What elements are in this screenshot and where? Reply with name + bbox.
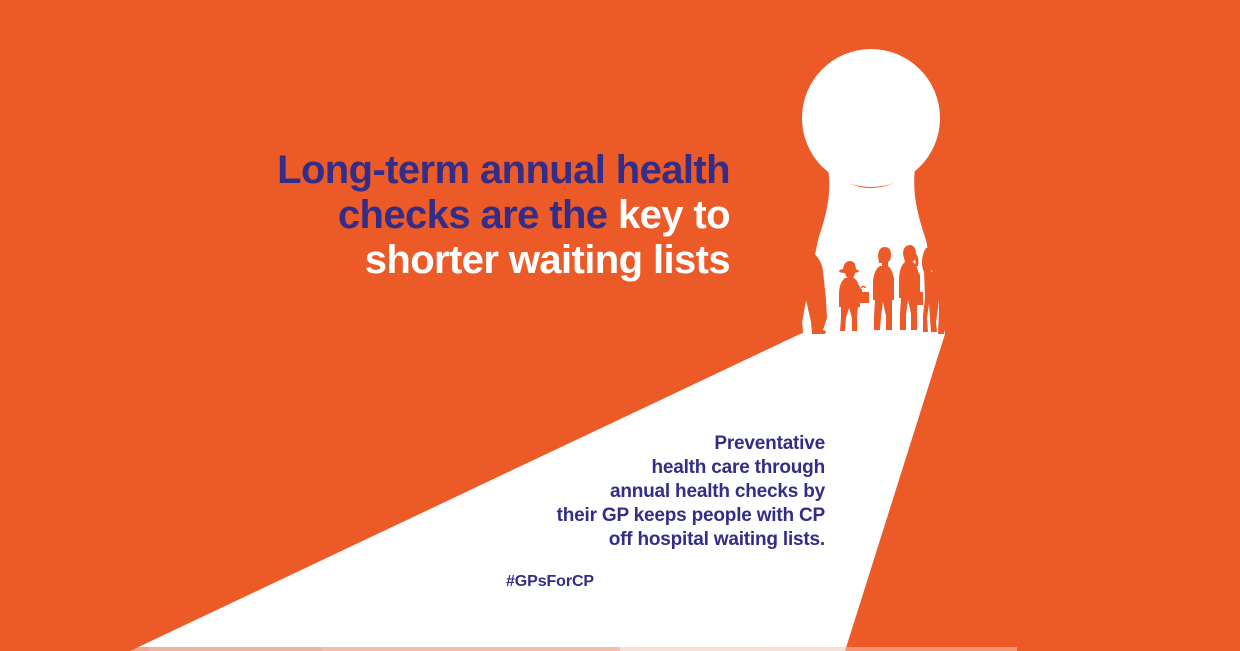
keyhole-illustration: [0, 0, 1240, 651]
body-copy: Preventative health care through annual …: [420, 432, 825, 552]
body-line-3: annual health checks by: [610, 481, 825, 502]
headline-line-2-blue: checks are the: [338, 193, 618, 237]
body-line-4: their GP keeps people with CP: [557, 505, 825, 526]
headline-line-2-white: key to: [618, 193, 730, 237]
page-headline: Long-term annual health checks are the k…: [120, 148, 730, 283]
headline-line-3-white: shorter waiting lists: [365, 238, 730, 282]
body-line-2: health care through: [651, 457, 825, 478]
body-line-1: Preventative: [714, 433, 825, 454]
figure-partial-far-right: [938, 290, 945, 334]
body-line-5: off hospital waiting lists.: [609, 529, 825, 550]
keyhole-circle: [802, 49, 940, 187]
campaign-poster: Long-term annual health checks are the k…: [0, 0, 1240, 651]
campaign-hashtag: #GPsForCP: [420, 573, 594, 591]
headline-line-1: Long-term annual health: [277, 148, 730, 192]
